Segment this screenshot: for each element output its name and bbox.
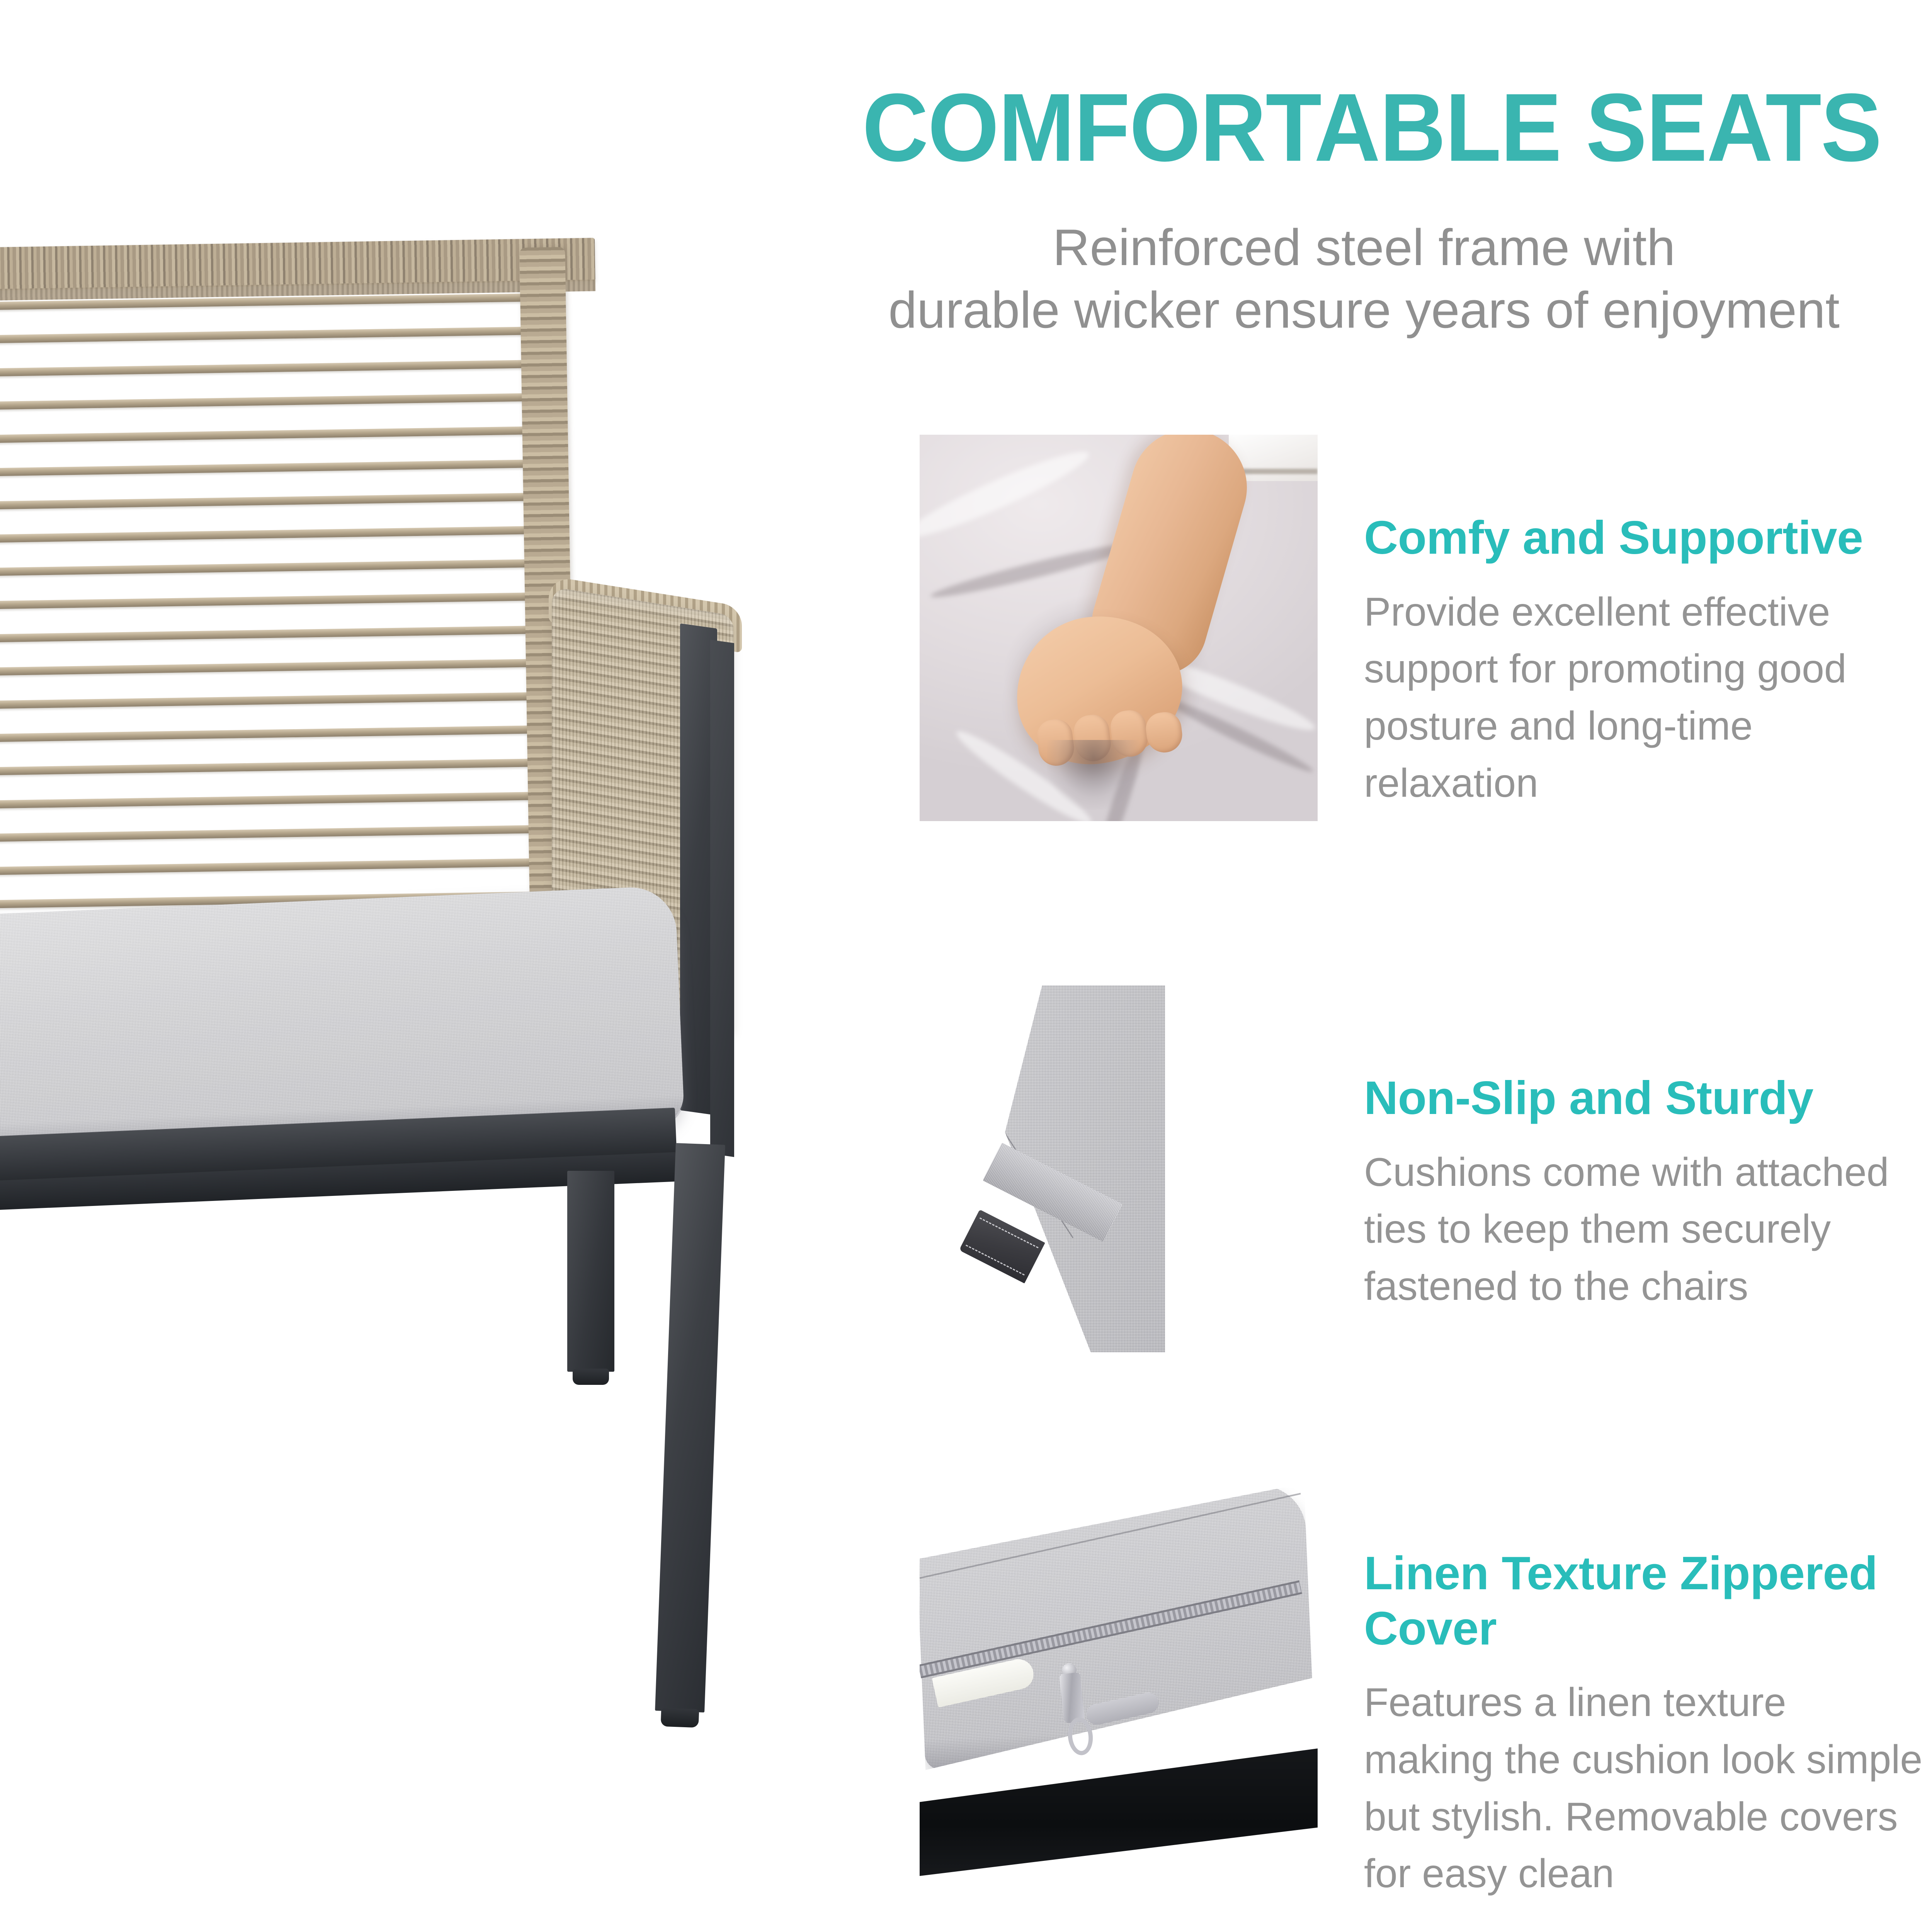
hand-pressing-cushion-photo xyxy=(920,435,1318,821)
zippered-cushion-cover-photo xyxy=(920,1488,1318,1876)
feature-body-3: Features a linen texture making the cush… xyxy=(1364,1674,1924,1903)
subtitle-line-2: durable wicker ensure years of enjoyment xyxy=(796,279,1932,342)
rear-leg xyxy=(567,1171,614,1372)
infographic-canvas: COMFORTABLE SEATS Reinforced steel frame… xyxy=(0,0,1932,1932)
front-leg xyxy=(655,1143,725,1713)
cushion-tie-strap-photo xyxy=(920,974,1318,1364)
wicker-back-slats xyxy=(0,293,569,913)
page-title: COMFORTABLE SEATS xyxy=(847,79,1897,176)
subtitle-line-1: Reinforced steel frame with xyxy=(796,216,1932,279)
feature-text-2: Non-Slip and Sturdy Cushions come with a… xyxy=(1364,1070,1924,1315)
feature-heading-3: Linen Texture Zippered Cover xyxy=(1364,1546,1924,1656)
feature-body-1: Provide excellent effective support for … xyxy=(1364,584,1924,812)
page-subtitle: Reinforced steel frame with durable wick… xyxy=(796,216,1932,342)
feature-heading-1: Comfy and Supportive xyxy=(1364,510,1924,565)
black-steel-frame xyxy=(920,1748,1318,1876)
steel-side-trim xyxy=(710,640,734,1157)
feature-text-1: Comfy and Supportive Provide excellent e… xyxy=(1364,510,1924,812)
feature-body-2: Cushions come with attached ties to keep… xyxy=(1364,1144,1924,1315)
feature-heading-2: Non-Slip and Sturdy xyxy=(1364,1070,1924,1126)
wicker-sofa-photo xyxy=(0,0,831,1932)
tie-strap-velcro-end xyxy=(959,1209,1045,1283)
wicker-top-rail xyxy=(0,238,595,291)
feature-text-3: Linen Texture Zippered Cover Features a … xyxy=(1364,1546,1924,1903)
